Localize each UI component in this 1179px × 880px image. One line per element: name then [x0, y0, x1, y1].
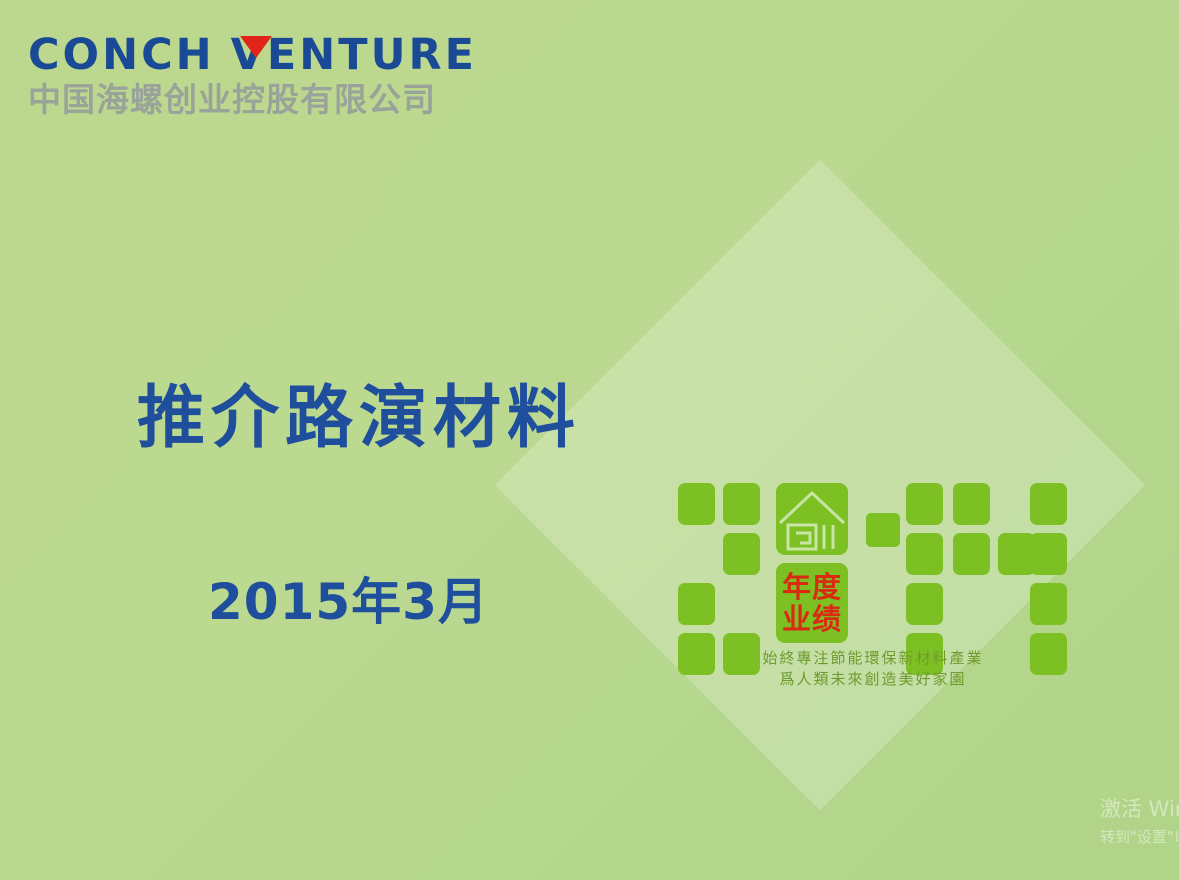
activation-subtitle: 转到"设置"以激活 Windows。	[1100, 823, 1179, 851]
annual-performance-label: 年度业绩	[779, 571, 845, 635]
emblem-tile	[953, 483, 990, 525]
red-triangle-icon	[240, 36, 272, 58]
tagline-line-1: 始終專注節能環保新材料產業	[678, 648, 1068, 669]
emblem-tile	[1030, 583, 1067, 625]
emblem-tile	[866, 513, 900, 547]
slide-title: 推介路演材料	[137, 378, 581, 458]
house-conch-icon	[776, 483, 848, 555]
emblem-tile	[678, 583, 715, 625]
company-logo: CONCHVENTURE 中国海螺创业控股有限公司	[28, 32, 528, 119]
windows-activation-watermark: 激活 Windows 转到"设置"以激活 Windows。	[1100, 795, 1179, 851]
emblem-tile	[906, 583, 943, 625]
emblem-tagline: 始終專注節能環保新材料產業 爲人類未來創造美好家園	[678, 648, 1068, 690]
annual-performance-badge: 年度业绩	[776, 563, 848, 643]
emblem-tile	[1030, 533, 1067, 575]
emblem-tile	[1030, 483, 1067, 525]
emblem-tile	[723, 483, 760, 525]
emblem-tile	[678, 483, 715, 525]
emblem-tile	[906, 483, 943, 525]
logo-wordmark: CONCHVENTURE	[28, 32, 528, 78]
slide-date: 2015年3月	[208, 572, 489, 632]
logo-company-name-cn: 中国海螺创业控股有限公司	[28, 81, 528, 119]
activation-title: 激活 Windows	[1100, 795, 1179, 823]
emblem-tile	[723, 533, 760, 575]
logo-word-conch: CONCH	[28, 32, 215, 78]
emblem-tile	[906, 533, 943, 575]
tagline-line-2: 爲人類未來創造美好家園	[678, 669, 1068, 690]
emblem-tile	[953, 533, 990, 575]
presentation-slide: CONCHVENTURE 中国海螺创业控股有限公司 推介路演材料 2015年3月…	[0, 0, 1179, 880]
